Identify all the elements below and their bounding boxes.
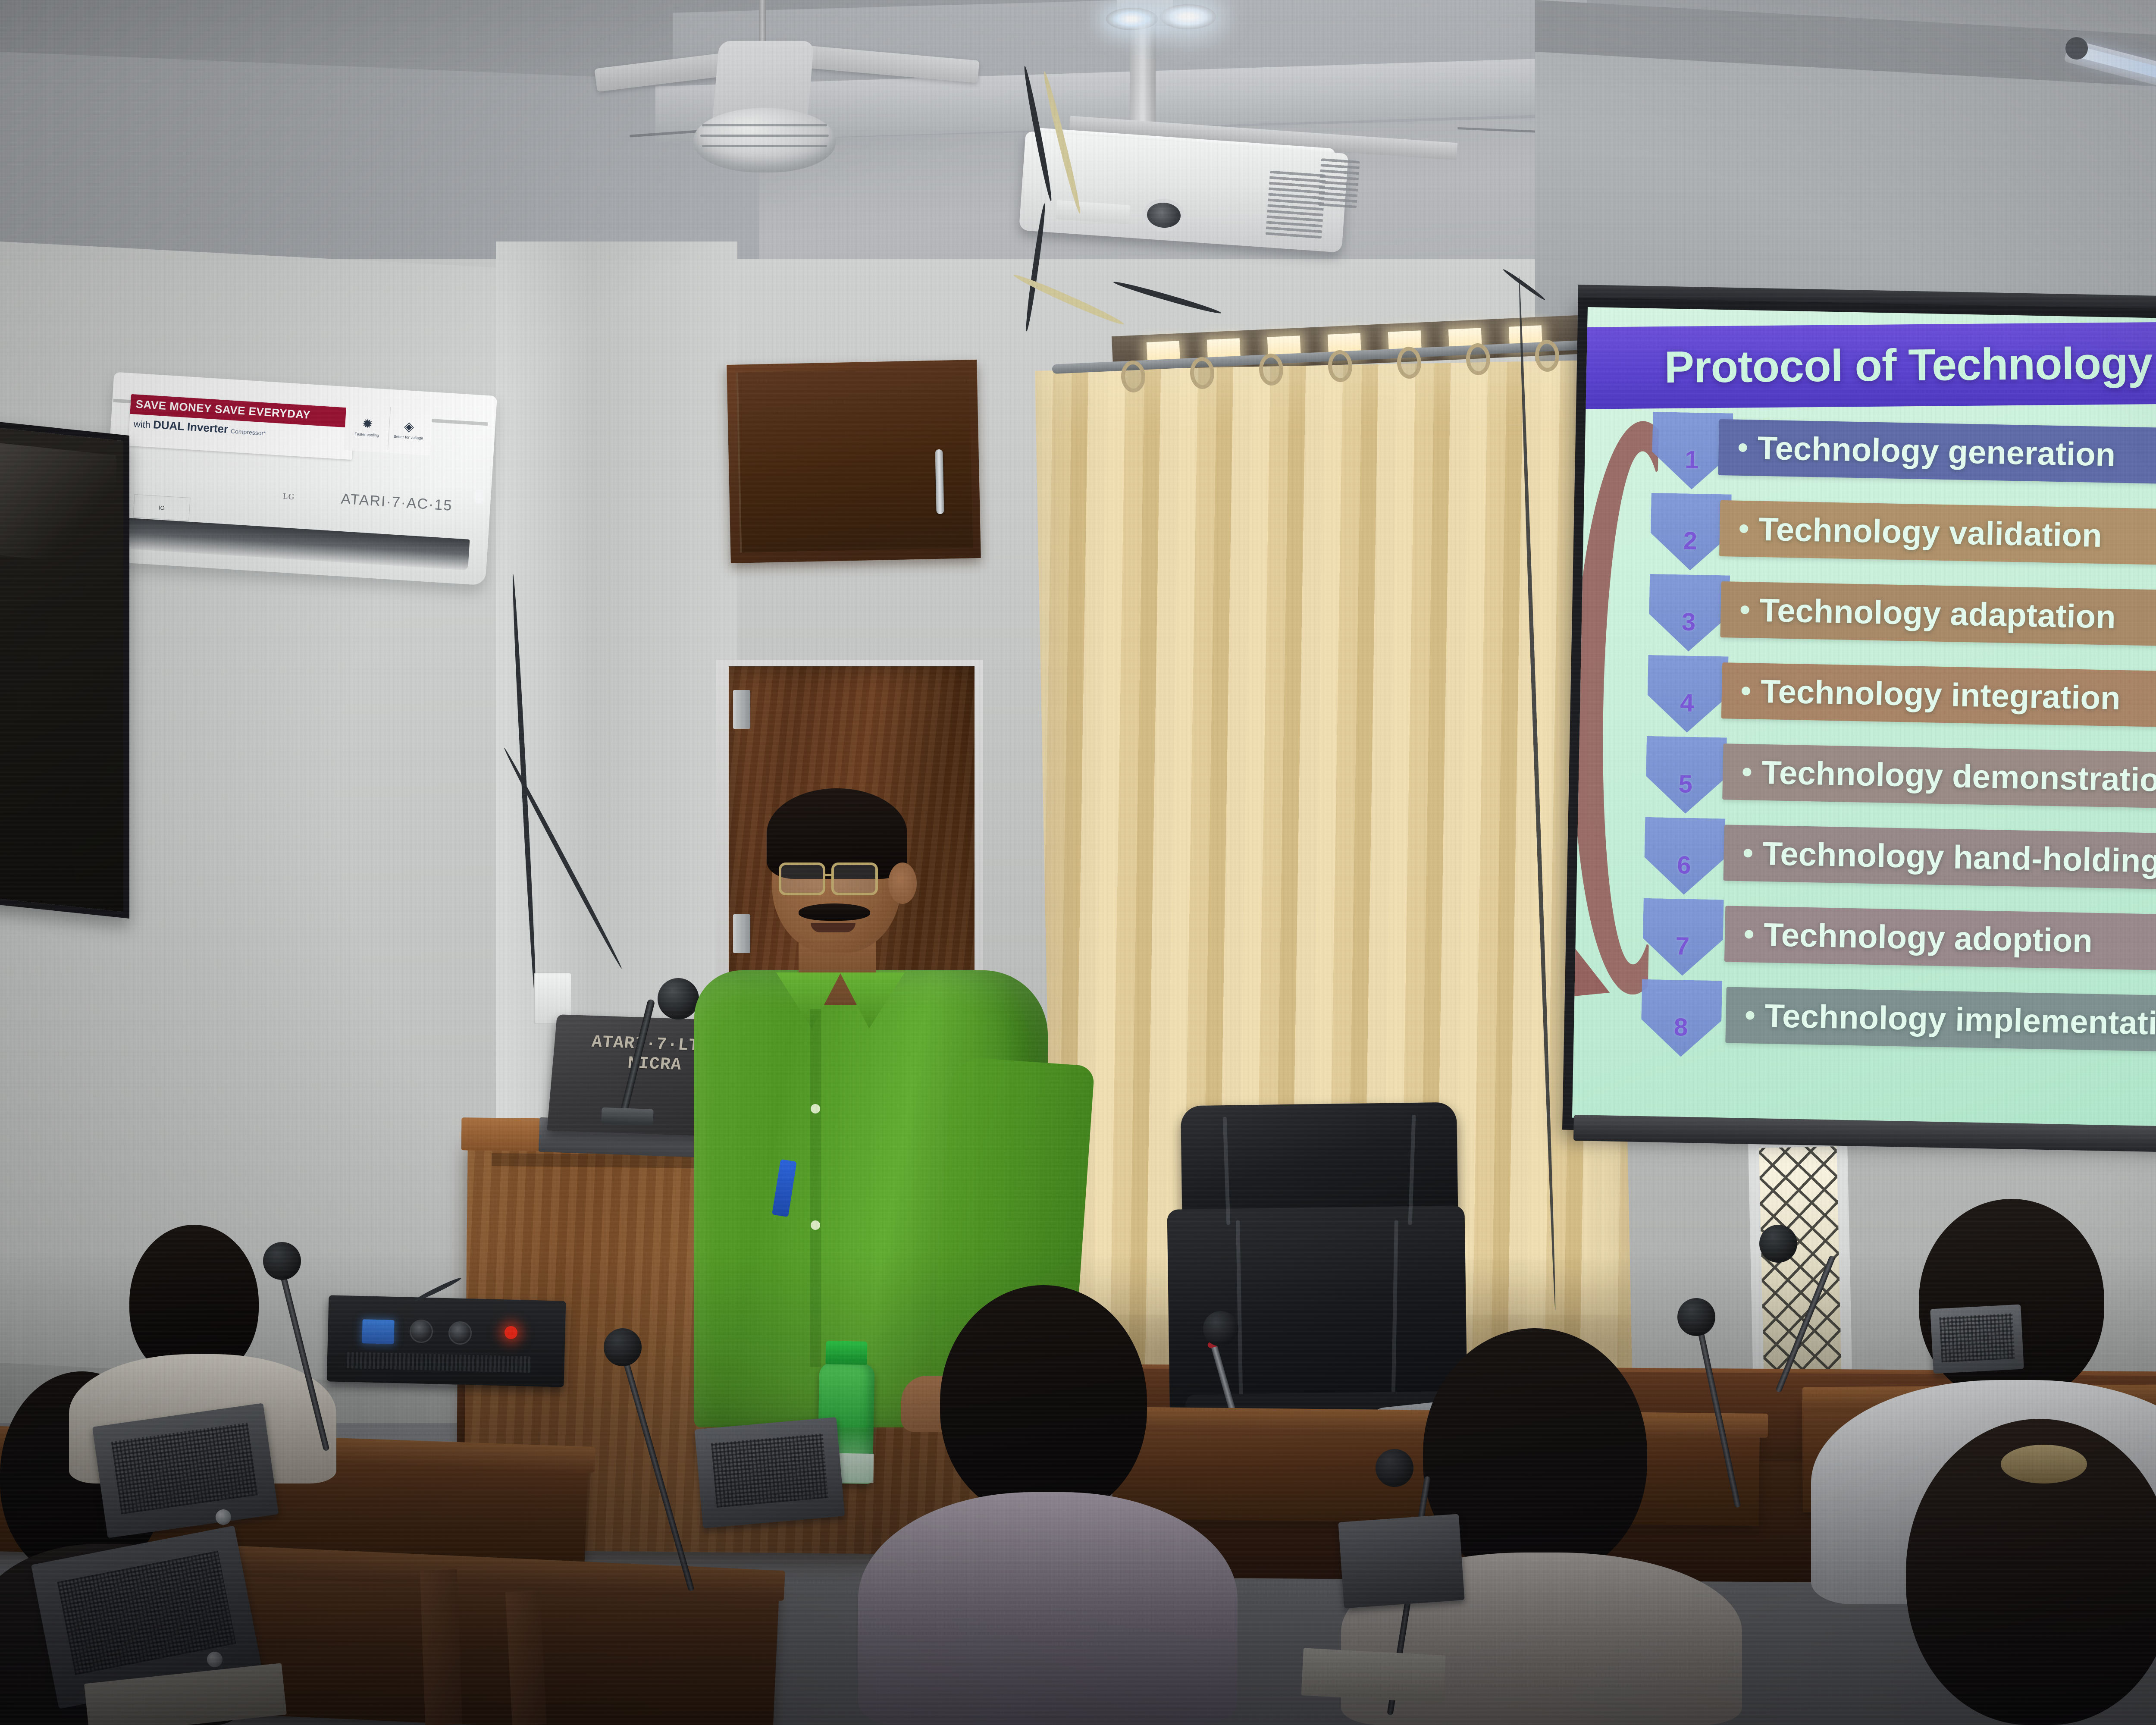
bullet-icon: [1744, 849, 1752, 857]
protocol-step-number: 7: [1675, 931, 1690, 961]
protocol-step-row: 3Technology adaptation: [1633, 574, 2156, 664]
projector-status-led: [1106, 8, 1158, 30]
conference-unit-5-speaker-grid: [1939, 1314, 2015, 1363]
podium-microphone-base[interactable]: [601, 1107, 653, 1126]
protocol-step-label: Technology hand-holding: [1762, 835, 2156, 880]
dais-microphone-head[interactable]: [1203, 1311, 1238, 1346]
protocol-step-bar: Technology demonstration: [1722, 743, 2156, 811]
protocol-step-label: Technology implementation: [1764, 997, 2156, 1043]
presenter-mouth: [811, 923, 856, 932]
protocol-step-row: 1Technology generation: [1636, 411, 2156, 502]
projector-status-led-secondary: [1160, 4, 1216, 29]
protocol-step-label: Technology demonstration: [1761, 753, 2156, 799]
presenter-shirt-placket: [810, 1009, 821, 1367]
protocol-step-row: 7Technology adoption: [1626, 898, 2156, 988]
protocol-step-number: 6: [1677, 850, 1692, 880]
audience-shoulders-fg-left: [858, 1492, 1238, 1725]
bullet-icon: [1742, 768, 1751, 776]
audience-head-fg-left: [940, 1285, 1147, 1518]
protocol-step-list: 1Technology generation2Technology valida…: [1625, 411, 2156, 1073]
ac-feature-voltage-label: Better for voltage: [394, 434, 423, 440]
protocol-step-number: 5: [1678, 769, 1693, 799]
ac-sticker-bold: DUAL Inverter: [153, 418, 229, 436]
protocol-step-number: 1: [1685, 445, 1699, 474]
presenter-glasses-bridge: [824, 874, 834, 876]
snowflake-icon: ✹: [362, 417, 373, 431]
protocol-step-bar: Technology adaptation: [1720, 581, 2156, 649]
protocol-step-number: 2: [1683, 526, 1698, 555]
audience-mic-head-1[interactable]: [263, 1242, 301, 1280]
tv-screen-reflection: [0, 442, 116, 568]
presenter-shirt-button-1: [811, 1104, 820, 1113]
fan-hub-ring-1: [702, 124, 827, 126]
protocol-step-row: 2Technology validation: [1634, 492, 2156, 583]
ac-feature-voltage: ◈ Better for voltage: [387, 407, 430, 453]
protocol-step-label: Technology integration: [1760, 672, 2121, 717]
audience-mic-head-3[interactable]: [1376, 1449, 1413, 1487]
conference-unit-4[interactable]: [1338, 1514, 1464, 1608]
pew-side-panel-left: [420, 1569, 463, 1725]
protocol-step-number: 4: [1680, 688, 1695, 718]
protocol-step-row: 8Technology implementation: [1625, 979, 2156, 1069]
protocol-step-number: 8: [1673, 1013, 1688, 1042]
ac-rating-badge: IO: [133, 494, 190, 521]
audience-mic-head-2[interactable]: [604, 1328, 642, 1366]
presentation-slide: Protocol of Technology Transfer Sys 1Tec…: [1572, 307, 2156, 1137]
bullet-icon: [1745, 1011, 1754, 1019]
protocol-step-bar: Technology hand-holding: [1724, 825, 2156, 892]
podium-microphone-head[interactable]: [658, 978, 699, 1019]
protocol-step-label: Technology adaptation: [1759, 591, 2116, 636]
presenter-ear: [888, 862, 917, 904]
bullet-icon: [1739, 443, 1747, 452]
presenter-moustache: [799, 903, 870, 921]
protocol-step-label: Technology adoption: [1763, 916, 2093, 960]
amplifier-display: [362, 1319, 394, 1344]
protocol-step-row: 5Technology demonstration: [1630, 736, 2156, 826]
fan-hub-ring-2: [700, 135, 829, 137]
ac-sticker-small: Compressor*: [231, 427, 266, 436]
cabinet-handle[interactable]: [935, 449, 944, 514]
ac-feature-cooling: ✹ Faster cooling: [346, 405, 389, 450]
ceiling-fan-hub: [693, 108, 836, 172]
audience-mic-head-7[interactable]: [1759, 1225, 1797, 1263]
slide-title-band: Protocol of Technology Transfer Sys: [1572, 318, 2156, 409]
presenter-shirt-button-2: [811, 1220, 820, 1230]
protocol-step-bar: Technology integration: [1721, 662, 2156, 730]
bullet-icon: [1745, 930, 1753, 938]
protocol-step-row: 6Technology hand-holding: [1628, 817, 2156, 907]
door-hinge-top: [733, 690, 750, 729]
pew-side-panel-left-2: [505, 1590, 547, 1725]
projector-vent-right: [1266, 171, 1326, 239]
bench-papers-center: [1301, 1648, 1445, 1703]
protocol-step-label: Technology validation: [1758, 510, 2102, 554]
protocol-step-bar: Technology validation: [1719, 500, 2156, 568]
protocol-step-bar: Technology adoption: [1724, 906, 2156, 973]
projector-vent-side: [1318, 158, 1360, 208]
audience-hair-clip: [2001, 1445, 2087, 1483]
protocol-step-label: Technology generation: [1757, 429, 2116, 474]
protocol-step-number: 3: [1681, 607, 1696, 637]
ac-sticker-prefix: with: [133, 418, 151, 430]
fan-hub-ring-3: [702, 145, 827, 147]
audience-mic-head-4[interactable]: [1677, 1298, 1715, 1336]
ac-feature-icons: ✹ Faster cooling ◈ Better for voltage: [344, 402, 433, 455]
presenter-glasses-right-lens: [831, 862, 878, 895]
ac-feature-cooling-label: Faster cooling: [354, 432, 379, 438]
ceiling-fan-downrod: [759, 0, 766, 45]
conference-hall-photo: SAVE MONEY SAVE EVERYDAY with DUAL Inver…: [0, 0, 2156, 1725]
protocol-step-row: 4Technology integration: [1631, 655, 2156, 745]
water-bottle-cap[interactable]: [826, 1341, 868, 1365]
ac-asset-number: 6: [474, 487, 485, 507]
slide-title: Protocol of Technology Transfer Sys: [1572, 335, 2156, 394]
protocol-step-bar: Technology generation: [1718, 419, 2156, 487]
bullet-icon: [1740, 605, 1749, 614]
protocol-step-bar: Technology implementation: [1725, 987, 2156, 1054]
door-hinge-bottom: [733, 914, 750, 953]
conference-unit-3-speaker-grid: [711, 1433, 828, 1508]
bullet-icon: [1742, 687, 1750, 695]
bullet-icon: [1739, 524, 1748, 533]
presenter-glasses-left-lens: [779, 862, 825, 895]
bolt-icon: ◈: [404, 420, 414, 433]
